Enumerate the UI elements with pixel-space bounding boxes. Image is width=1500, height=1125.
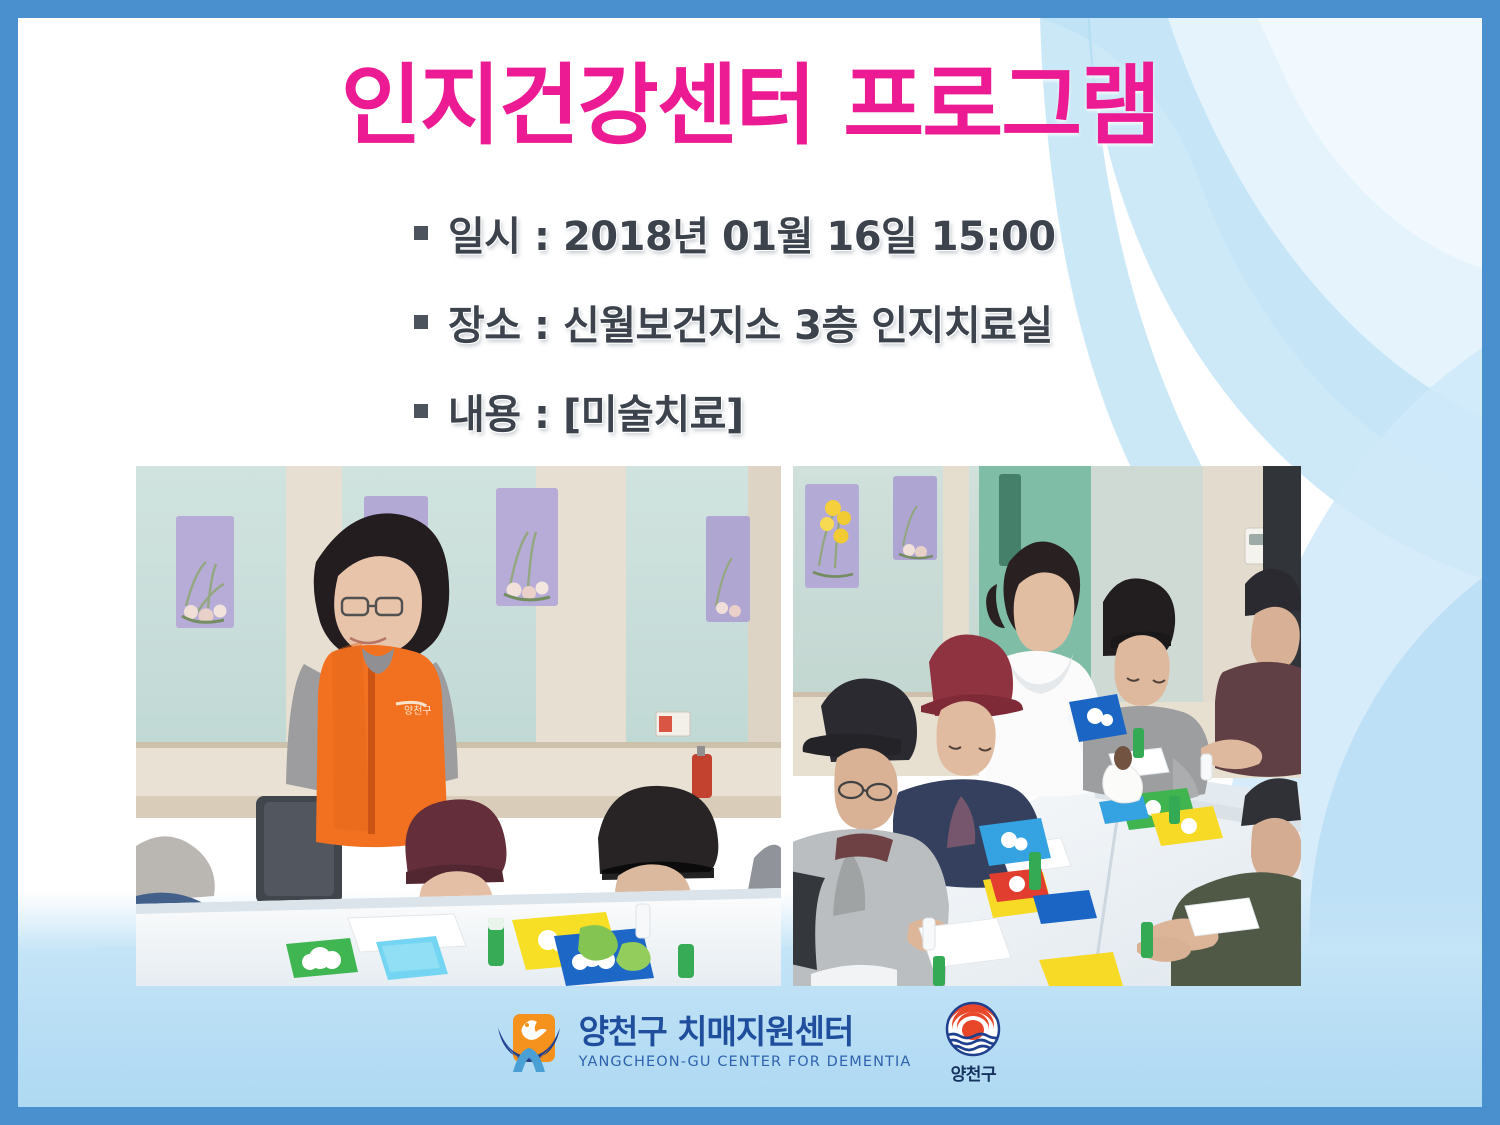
info-datetime-text: 일시 : 2018년 01월 16일 15:00 <box>448 204 1056 262</box>
photo-right <box>793 466 1301 986</box>
footer-org-en: YANGCHEON-GU CENTER FOR DEMENTIA <box>579 1054 912 1071</box>
dove-person-logo-icon <box>497 1012 561 1074</box>
photo-right-illustration <box>793 466 1301 986</box>
page-title: 인지건강센터 프로그램 <box>18 60 1482 152</box>
poster-inner: 인지건강센터 프로그램 일시 : 2018년 01월 16일 15:00 장소 … <box>18 18 1482 1107</box>
yangcheon-gu-sun-wave-emblem-icon <box>943 1000 1003 1058</box>
poster-root: 인지건강센터 프로그램 일시 : 2018년 01월 16일 15:00 장소 … <box>0 0 1500 1125</box>
photo-left-illustration: 양천구 <box>136 466 781 986</box>
info-row-location: 장소 : 신월보건지소 3층 인지치료실 <box>414 293 1174 351</box>
photo-left: 양천구 <box>136 466 781 986</box>
footer-branding: 양천구 치매지원센터 YANGCHEON-GU CENTER FOR DEMEN… <box>18 1000 1482 1085</box>
info-content-text: 내용 : [미술치료] <box>448 382 744 440</box>
footer-org-ko: 양천구 치매지원센터 <box>579 1014 912 1051</box>
bullet-square-icon <box>414 404 428 418</box>
program-info-list: 일시 : 2018년 01월 16일 15:00 장소 : 신월보건지소 3층 … <box>414 204 1174 471</box>
bullet-square-icon <box>414 315 428 329</box>
yangcheon-gu-emblem: 양천구 <box>943 1000 1003 1085</box>
info-location-text: 장소 : 신월보건지소 3층 인지치료실 <box>448 293 1053 351</box>
info-row-datetime: 일시 : 2018년 01월 16일 15:00 <box>414 204 1174 262</box>
photo-gallery: 양천구 <box>136 466 1301 986</box>
info-row-content: 내용 : [미술치료] <box>414 382 1174 440</box>
emblem-label: 양천구 <box>951 1060 996 1085</box>
footer-org-text: 양천구 치매지원센터 YANGCHEON-GU CENTER FOR DEMEN… <box>579 1014 912 1071</box>
bullet-square-icon <box>414 226 428 240</box>
